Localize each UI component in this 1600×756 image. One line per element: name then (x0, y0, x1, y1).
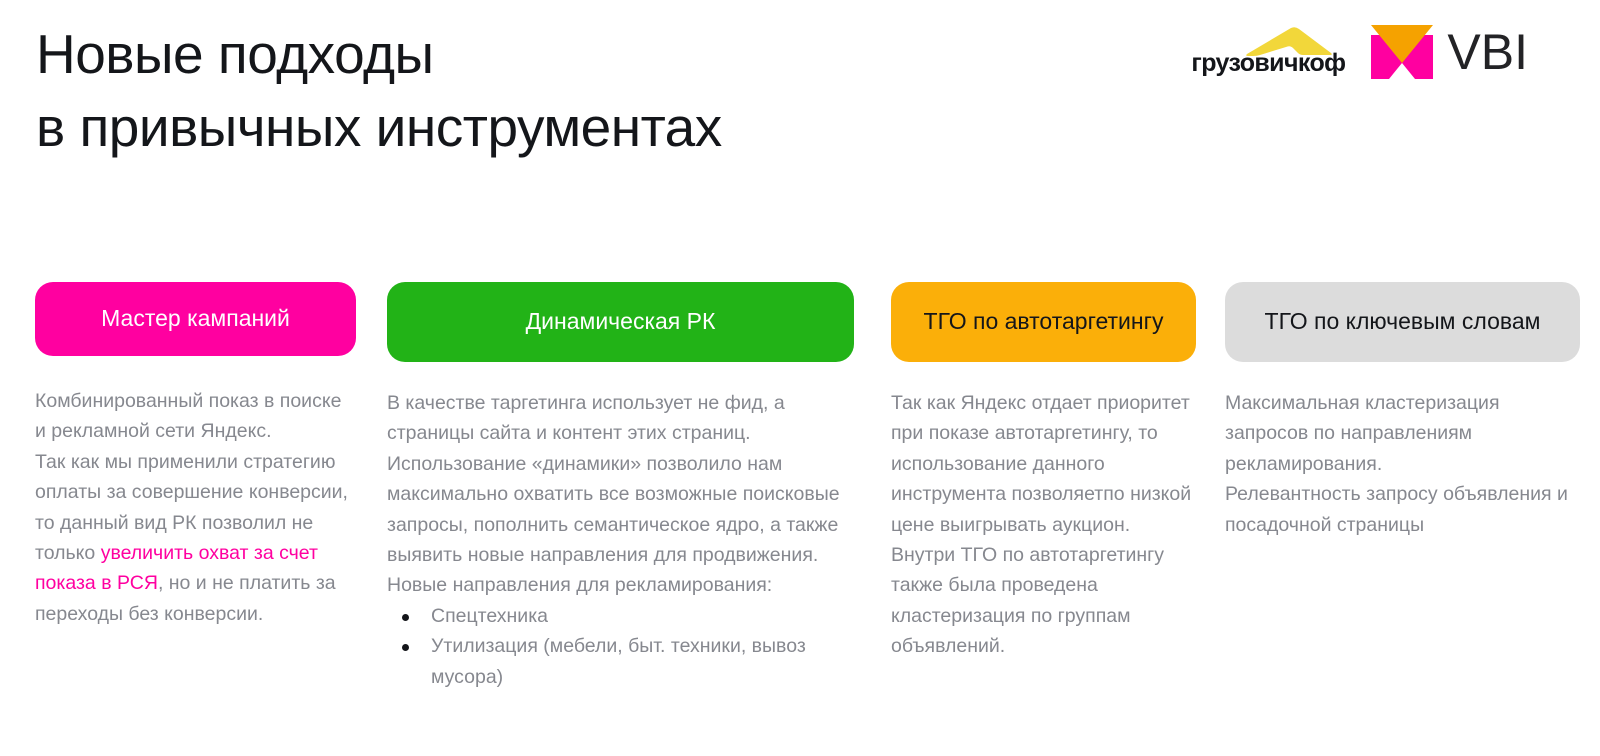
card-header-master-kampaniy[interactable]: Мастер кампаний (35, 282, 356, 356)
column-body-tgo-avtotargeting: Так как Яндекс отдает приоритет при пока… (891, 388, 1196, 662)
paragraph: Внутри ТГО по автотаргетингу также была … (891, 540, 1196, 662)
column-dinamicheskaya-rk: Динамическая РК В качестве таргетинга ис… (378, 282, 878, 692)
slide-root: Новые подходы в привычных инструментах г… (0, 0, 1600, 756)
paragraph: Так как мы применили стратегию оплаты за… (35, 447, 356, 629)
paragraph: Так как Яндекс отдает приоритет при пока… (891, 388, 1196, 540)
column-master-kampaniy: Мастер кампаний Комбинированный показ в … (0, 282, 378, 629)
card-header-label: ТГО по ключевым словам (1265, 307, 1541, 336)
card-header-label: Мастер кампаний (101, 304, 290, 333)
page-title: Новые подходы в привычных инструментах (36, 18, 1036, 164)
column-tgo-keywords: ТГО по ключевым словам Максимальная клас… (1210, 282, 1600, 540)
page-title-line-1: Новые подходы (36, 18, 1036, 91)
paragraph: Новые направления для рекламирования: (387, 570, 854, 600)
card-header-dinamicheskaya-rk[interactable]: Динамическая РК (387, 282, 854, 362)
vbi-logo: VBI (1371, 25, 1528, 79)
vbi-wordmark: VBI (1447, 27, 1528, 77)
page-title-line-2: в привычных инструментах (36, 91, 1036, 164)
paragraph: В качестве таргетинга использует не фид,… (387, 388, 854, 449)
card-header-tgo-keywords[interactable]: ТГО по ключевым словам (1225, 282, 1580, 362)
list-item: Спецтехника (431, 601, 854, 631)
column-body-dinamicheskaya-rk: В качестве таргетинга использует не фид,… (387, 388, 854, 692)
paragraph: Максимальная кластеризация запросов по н… (1225, 388, 1580, 479)
gruzovichkof-logo: грузовичкоф (1191, 22, 1343, 82)
list-item: Утилизация (мебели, быт. техники, вывоз … (431, 631, 854, 692)
card-header-label: ТГО по автотаргетингу (924, 307, 1164, 336)
column-body-master-kampaniy: Комбинированный показ в поиске и рекламн… (35, 386, 356, 629)
approach-columns: Мастер кампаний Комбинированный показ в … (0, 282, 1600, 692)
column-body-tgo-keywords: Максимальная кластеризация запросов по н… (1225, 388, 1580, 540)
logo-group: грузовичкоф VBI (1191, 22, 1528, 82)
gruzovichkof-wordmark: грузовичкоф (1191, 49, 1345, 78)
paragraph: Релевантность запросу объявления и посад… (1225, 479, 1580, 540)
column-tgo-avtotargeting: ТГО по автотаргетингу Так как Яндекс отд… (878, 282, 1210, 662)
paragraph: Комбинированный показ в поиске и рекламн… (35, 386, 356, 447)
card-header-tgo-avtotargeting[interactable]: ТГО по автотаргетингу (891, 282, 1196, 362)
paragraph: Использование «динамики» позволило нам м… (387, 449, 854, 571)
new-directions-list: Спецтехника Утилизация (мебели, быт. тех… (387, 601, 854, 692)
card-header-label: Динамическая РК (526, 307, 716, 336)
vbi-mark-icon (1371, 25, 1433, 79)
